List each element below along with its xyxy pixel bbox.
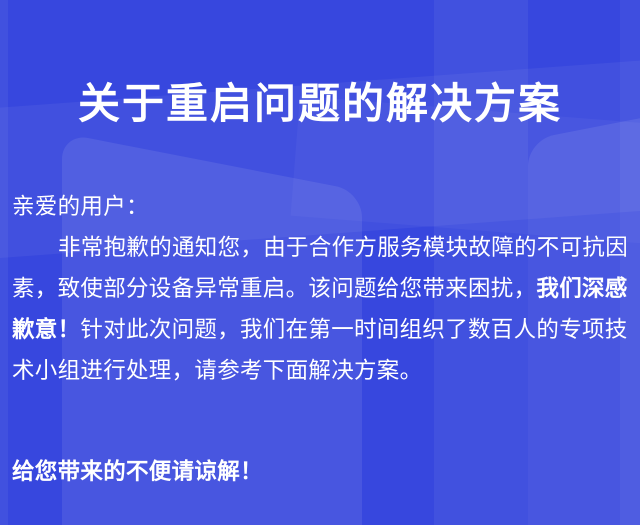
body-line: 非常抱歉的通知您，由于合作方服务模块故障的不可抗因 xyxy=(12,227,626,268)
body-line: 素，致使部分设备异常重启。该问题给您带来困扰，我们深感 xyxy=(12,268,626,309)
body-text: 素，致使部分设备异常重启。该问题给您带来困扰， xyxy=(12,276,536,301)
closing-line: 给您带来的不便请谅解！ xyxy=(12,457,263,487)
announcement-poster: 关于重启问题的解决方案 亲爱的用户： 非常抱歉的通知您，由于合作方服务模块故障的… xyxy=(0,0,640,525)
poster-content: 关于重启问题的解决方案 亲爱的用户： 非常抱歉的通知您，由于合作方服务模块故障的… xyxy=(0,0,640,525)
body-line: 术小组进行处理，请参考下面解决方案。 xyxy=(12,350,626,391)
announcement-body: 亲爱的用户： 非常抱歉的通知您，由于合作方服务模块故障的不可抗因素，致使部分设备… xyxy=(12,186,626,391)
emphasis-text: 歉意！ xyxy=(12,317,80,342)
body-line: 歉意！针对此次问题，我们在第一时间组织了数百人的专项技 xyxy=(12,309,626,350)
body-text: 针对此次问题，我们在第一时间组织了数百人的专项技 xyxy=(80,317,627,342)
body-text: 术小组进行处理，请参考下面解决方案。 xyxy=(12,358,422,383)
page-title: 关于重启问题的解决方案 xyxy=(0,80,640,128)
emphasis-text: 我们深感 xyxy=(536,276,627,301)
salutation-line: 亲爱的用户： xyxy=(12,186,626,227)
paragraph-lines: 非常抱歉的通知您，由于合作方服务模块故障的不可抗因素，致使部分设备异常重启。该问… xyxy=(12,227,626,391)
body-text: 非常抱歉的通知您，由于合作方服务模块故障的不可抗因 xyxy=(58,235,628,260)
